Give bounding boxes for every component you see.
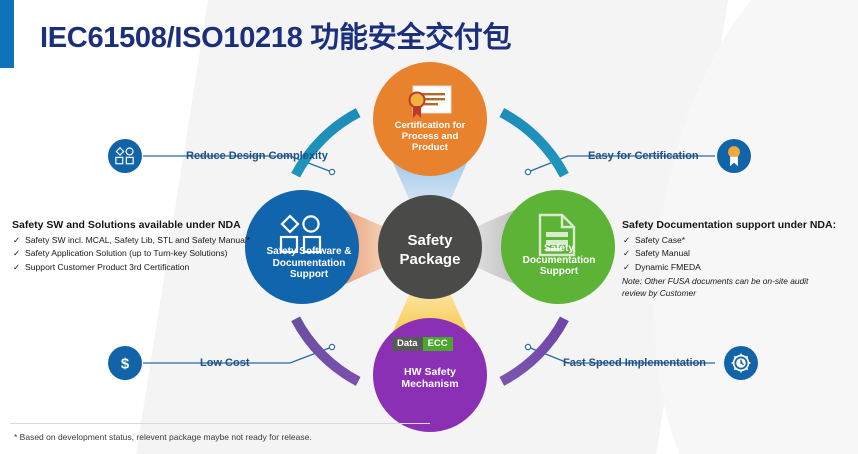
gear-clock-icon <box>724 346 758 380</box>
data-ecc-chips: Data ECC <box>392 337 470 351</box>
shapes-icon <box>108 139 142 173</box>
lobe-safety-documentation <box>501 190 615 304</box>
list-item: Safety Case* <box>622 234 836 247</box>
chip-ecc: ECC <box>423 337 453 351</box>
callout-label: Easy for Certification <box>588 150 699 162</box>
callout-easy-for-certification[interactable]: Easy for Certification <box>588 139 751 173</box>
info-block-right: Safety Documentation support under NDA: … <box>622 219 836 299</box>
hub-center-circle <box>378 195 482 299</box>
callout-label: Low Cost <box>200 357 250 369</box>
list-item: Support Customer Product 3rd Certificati… <box>12 261 250 274</box>
callout-low-cost[interactable]: $ Low Cost <box>108 346 250 380</box>
list-item: Safety Manual <box>622 247 836 260</box>
lobe-certification <box>373 62 487 176</box>
list-item: Dynamic FMEDA <box>622 261 836 274</box>
list-item: Safety SW incl. MCAL, Safety Lib, STL an… <box>12 234 250 247</box>
list-item: Safety Application Solution (up to Turn-… <box>12 247 250 260</box>
callout-label: Reduce Design Complexity <box>186 150 328 162</box>
footer-divider <box>10 423 430 424</box>
page-title: IEC61508/ISO10218 功能安全交付包 <box>40 14 511 56</box>
callout-fast-speed-implementation[interactable]: Fast Speed Implementation <box>563 346 758 380</box>
info-left-list: Safety SW incl. MCAL, Safety Lib, STL an… <box>12 234 250 274</box>
info-block-left: Safety SW and Solutions available under … <box>12 219 250 274</box>
award-ribbon-icon <box>717 139 751 173</box>
lobe-safety-software <box>245 190 359 304</box>
chip-data: Data <box>392 337 423 351</box>
slide-canvas: IEC61508/ISO10218 功能安全交付包 <box>0 0 858 454</box>
info-right-title: Safety Documentation support under NDA: <box>622 219 836 231</box>
footer-note: * Based on development status, relevent … <box>14 432 312 442</box>
callout-label: Fast Speed Implementation <box>563 357 706 369</box>
callout-reduce-design-complexity[interactable]: Reduce Design Complexity <box>108 139 328 173</box>
title-accent-bar <box>0 0 14 68</box>
lobe-hw-safety <box>373 318 487 432</box>
safety-package-hub <box>245 62 615 432</box>
info-left-title: Safety SW and Solutions available under … <box>12 219 250 231</box>
info-right-list: Safety Case* Safety Manual Dynamic FMEDA <box>622 234 836 274</box>
certificate-icon <box>410 86 452 118</box>
info-right-note: Note: Other FUSA documents can be on-sit… <box>622 275 827 299</box>
dollar-icon: $ <box>108 346 142 380</box>
svg-text:$: $ <box>121 356 130 373</box>
